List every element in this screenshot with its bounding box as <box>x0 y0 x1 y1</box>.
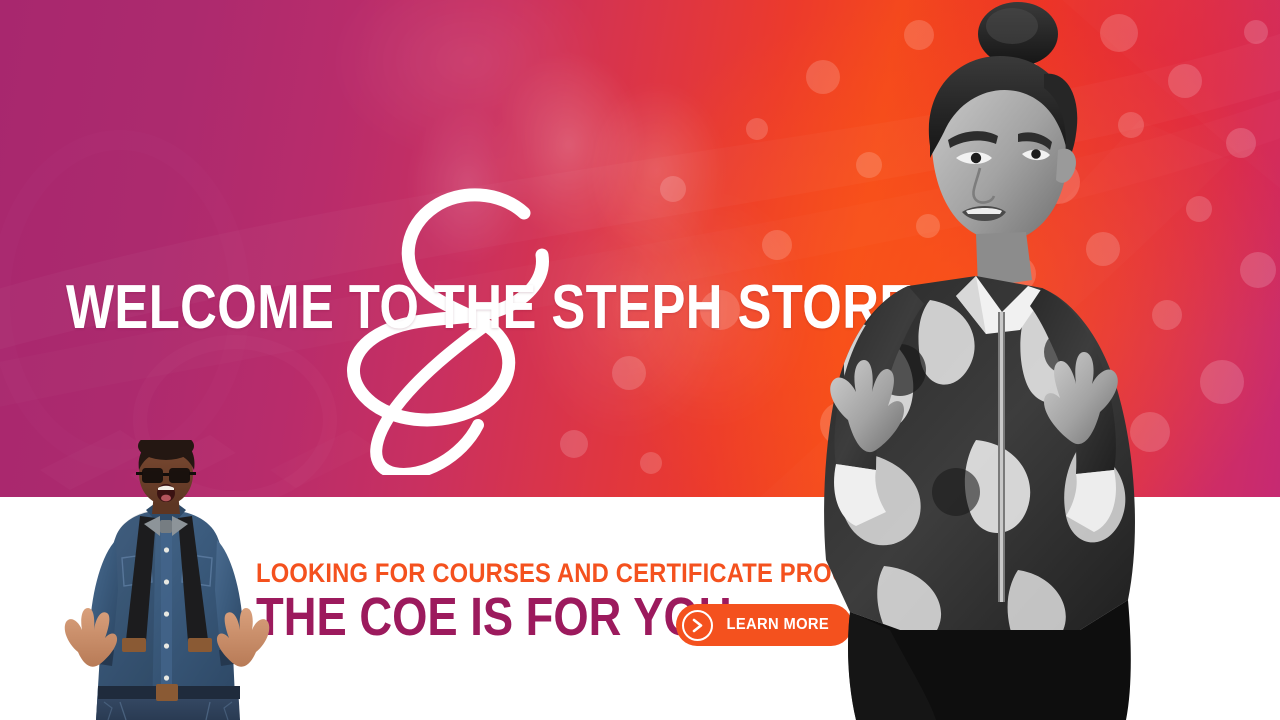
hero-text-block: WELCOME TO THE STEPH STORE QUICK WAYS TO… <box>66 277 806 339</box>
chevron-right-circle-icon <box>682 610 713 641</box>
man-with-suspenders-photo <box>60 440 280 720</box>
promotional-hero-page: WELCOME TO THE STEPH STORE QUICK WAYS TO… <box>0 0 1280 720</box>
woman-in-patterned-jacket-photo <box>780 0 1200 720</box>
hero-headline: WELCOME TO THE STEPH STORE <box>66 277 673 339</box>
